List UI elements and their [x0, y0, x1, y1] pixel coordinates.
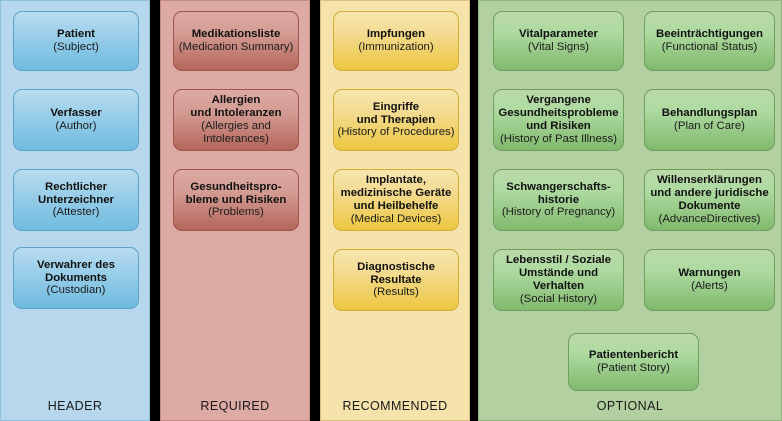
- node-label-en: (History of Past Illness): [500, 133, 617, 146]
- node-alerts[interactable]: Warnungen (Alerts): [644, 249, 775, 311]
- node-plan-of-care[interactable]: Behandlungsplan (Plan of Care): [644, 89, 775, 151]
- node-label-de: Patientenbericht: [589, 349, 678, 362]
- node-problems[interactable]: Gesundheitspro-bleme und Risiken (Proble…: [173, 169, 299, 231]
- node-label-de: Lebensstil / SozialeUmstände undVerhalte…: [506, 254, 611, 293]
- node-label-de: Behandlungsplan: [662, 107, 758, 120]
- node-label-de: Beeinträchtigungen: [656, 28, 763, 41]
- node-label-en: (Problems): [208, 206, 264, 219]
- node-history-of-pregnancy[interactable]: Schwangerschafts-historie (History of Pr…: [493, 169, 624, 231]
- node-label-de: Eingriffeund Therapien: [357, 101, 435, 127]
- node-label-en: (Author): [55, 120, 96, 133]
- node-label-en: (Plan of Care): [674, 120, 745, 133]
- node-label-en: (Vital Signs): [528, 41, 589, 54]
- column-label-required: REQUIRED: [161, 399, 309, 413]
- node-label-de: Verfasser: [50, 107, 101, 120]
- node-label-de: Schwangerschafts-historie: [506, 181, 610, 207]
- node-label-en: (Alerts): [691, 280, 728, 293]
- node-author[interactable]: Verfasser (Author): [13, 89, 139, 151]
- node-patient[interactable]: Patient (Subject): [13, 11, 139, 71]
- node-label-de: Implantate,medizinische Geräteund Heilbe…: [341, 174, 452, 213]
- node-history-of-past-illness[interactable]: VergangeneGesundheitsproblemeund Risiken…: [493, 89, 624, 151]
- column-required: Medikationsliste (Medication Summary) Al…: [160, 0, 310, 421]
- node-label-en: (Results): [373, 286, 419, 299]
- node-history-of-procedures[interactable]: Eingriffeund Therapien (History of Proce…: [333, 89, 459, 151]
- node-custodian[interactable]: Verwahrer desDokuments (Custodian): [13, 247, 139, 309]
- column-label-recommended: RECOMMENDED: [321, 399, 469, 413]
- diagram-canvas: Patient (Subject) Verfasser (Author) Rec…: [0, 0, 782, 421]
- node-label-de: DiagnostischeResultate: [357, 261, 435, 287]
- node-label-de: Vitalparameter: [519, 28, 598, 41]
- node-label-de: Medikationsliste: [192, 28, 281, 41]
- node-label-en: (Social History): [520, 293, 597, 306]
- node-label-de: Allergienund Intoleranzen: [190, 94, 281, 120]
- node-social-history[interactable]: Lebensstil / SozialeUmstände undVerhalte…: [493, 249, 624, 311]
- node-label-de: Patient: [57, 28, 95, 41]
- node-label-en: (History of Pregnancy): [502, 206, 615, 219]
- node-label-de: Verwahrer desDokuments: [37, 259, 115, 285]
- column-label-header: HEADER: [1, 399, 149, 413]
- node-vital-signs[interactable]: Vitalparameter (Vital Signs): [493, 11, 624, 71]
- node-results[interactable]: DiagnostischeResultate (Results): [333, 249, 459, 311]
- node-label-en: (Medication Summary): [179, 41, 294, 54]
- node-label-en: (Medical Devices): [351, 213, 442, 226]
- node-functional-status[interactable]: Beeinträchtigungen (Functional Status): [644, 11, 775, 71]
- node-label-en: (Subject): [53, 41, 99, 54]
- node-advance-directives[interactable]: Willenserklärungenund andere juridischeD…: [644, 169, 775, 231]
- column-header: Patient (Subject) Verfasser (Author) Rec…: [0, 0, 150, 421]
- node-label-en: (Functional Status): [662, 41, 758, 54]
- node-medical-devices[interactable]: Implantate,medizinische Geräteund Heilbe…: [333, 169, 459, 231]
- node-label-de: Impfungen: [367, 28, 425, 41]
- node-label-de: Willenserklärungenund andere juridischeD…: [650, 174, 768, 213]
- node-medication-summary[interactable]: Medikationsliste (Medication Summary): [173, 11, 299, 71]
- node-patient-story[interactable]: Patientenbericht (Patient Story): [568, 333, 699, 391]
- node-label-en: (AdvanceDirectives): [659, 213, 761, 226]
- node-label-en: (Immunization): [358, 41, 433, 54]
- node-label-de: RechtlicherUnterzeichner: [38, 181, 114, 207]
- node-immunization[interactable]: Impfungen (Immunization): [333, 11, 459, 71]
- node-label-en: (History of Procedures): [337, 126, 454, 139]
- column-recommended: Impfungen (Immunization) Eingriffeund Th…: [320, 0, 470, 421]
- node-attester[interactable]: RechtlicherUnterzeichner (Attester): [13, 169, 139, 231]
- node-label-en: (Allergies andIntolerances): [201, 120, 271, 146]
- node-label-de: VergangeneGesundheitsproblemeund Risiken: [498, 94, 618, 133]
- node-label-de: Warnungen: [678, 267, 740, 280]
- column-label-optional: OPTIONAL: [479, 399, 781, 413]
- node-label-en: (Custodian): [47, 284, 106, 297]
- node-label-de: Gesundheitspro-bleme und Risiken: [186, 181, 287, 207]
- column-optional: Vitalparameter (Vital Signs) VergangeneG…: [478, 0, 782, 421]
- node-allergies-intolerances[interactable]: Allergienund Intoleranzen (Allergies and…: [173, 89, 299, 151]
- node-label-en: (Patient Story): [597, 362, 670, 375]
- node-label-en: (Attester): [53, 206, 100, 219]
